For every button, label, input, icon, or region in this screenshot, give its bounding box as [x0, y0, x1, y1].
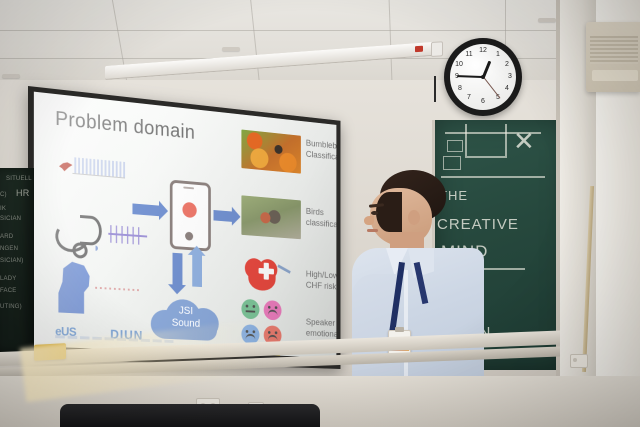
housing-end-cap [431, 41, 443, 57]
emoji-green-flat [241, 299, 259, 320]
board-eraser [34, 343, 66, 361]
hair-side [376, 192, 402, 232]
ac-vents [590, 36, 638, 64]
sound-wave-icon: ◗ [93, 242, 104, 255]
ceiling-fixture [222, 47, 240, 51]
presentation-slide: Problem domain ◗ [34, 92, 336, 358]
bird-photo [241, 195, 300, 239]
heart-health-icon [243, 252, 281, 294]
clock-number-2: 2 [502, 61, 512, 69]
speaker-head-icon [55, 261, 95, 315]
nose [364, 216, 374, 225]
housing-label-sticker [415, 46, 423, 53]
slide-title: Problem domain [55, 108, 195, 145]
arrow-right-to-phone [132, 203, 159, 216]
clock-face: 12 1 2 3 4 5 6 7 8 9 10 11 [450, 44, 516, 110]
projection-screen: Problem domain ◗ [28, 86, 340, 369]
bumblebee-photo [241, 130, 300, 174]
clock-number-12: 12 [478, 47, 488, 55]
record-button-icon [182, 202, 196, 218]
speech-wave-icon [95, 287, 141, 292]
chalk-x-mark: ✕ [513, 128, 535, 154]
wall-clock: 12 1 2 3 4 5 6 7 8 9 10 11 [444, 38, 522, 116]
bumblebees-label-line2: Classification [306, 149, 337, 164]
clock-number-10: 10 [454, 61, 464, 69]
arrow-down-to-cloud [173, 253, 183, 286]
power-outlet [570, 354, 588, 368]
ceiling-fixture [2, 74, 20, 78]
arrow-up-from-cloud [192, 254, 202, 287]
stethoscope-icon: ◗ [55, 211, 108, 254]
arrow-right-to-results [213, 210, 232, 222]
birds-label: Birds classification [306, 206, 337, 231]
air-conditioner-unit [586, 22, 640, 92]
ceiling-fixture [538, 18, 556, 22]
clock-second-hand [483, 77, 500, 99]
clock-number-11: 11 [464, 51, 474, 59]
clock-number-3: 3 [505, 73, 515, 81]
chf-label-line2: CHF risk [306, 280, 337, 293]
cloud-label: JSI Sound [147, 303, 224, 332]
bird-icon [59, 161, 72, 172]
ceiling [0, 0, 640, 92]
screen-cord [434, 76, 436, 102]
clock-center-pin [481, 75, 485, 79]
emoji-pink-sad [264, 300, 282, 320]
bumblebees-label: Bumblebees Classification [306, 138, 337, 164]
ear [408, 210, 420, 225]
clock-number-7: 7 [464, 94, 474, 102]
chf-risk-label: High/Low CHF risk [306, 269, 337, 292]
clock-number-1: 1 [493, 51, 503, 59]
smartphone-icon [170, 180, 211, 252]
classroom-presentation-photo: Problem domain ◗ [0, 0, 640, 427]
mouth [367, 229, 378, 232]
blackboard-left: SITUELL C) HR IK SICIAN ARD NGEN SICIAN)… [0, 168, 34, 354]
ac-flap [592, 70, 638, 81]
clock-number-6: 6 [478, 98, 488, 106]
bird-spectrogram-icon [59, 156, 125, 184]
clock-number-4: 4 [502, 85, 512, 93]
eye [371, 211, 378, 215]
bench-top [60, 404, 320, 427]
birds-label-line2: classification [306, 217, 337, 231]
clock-number-8: 8 [455, 85, 465, 93]
badge-clip [395, 327, 404, 332]
